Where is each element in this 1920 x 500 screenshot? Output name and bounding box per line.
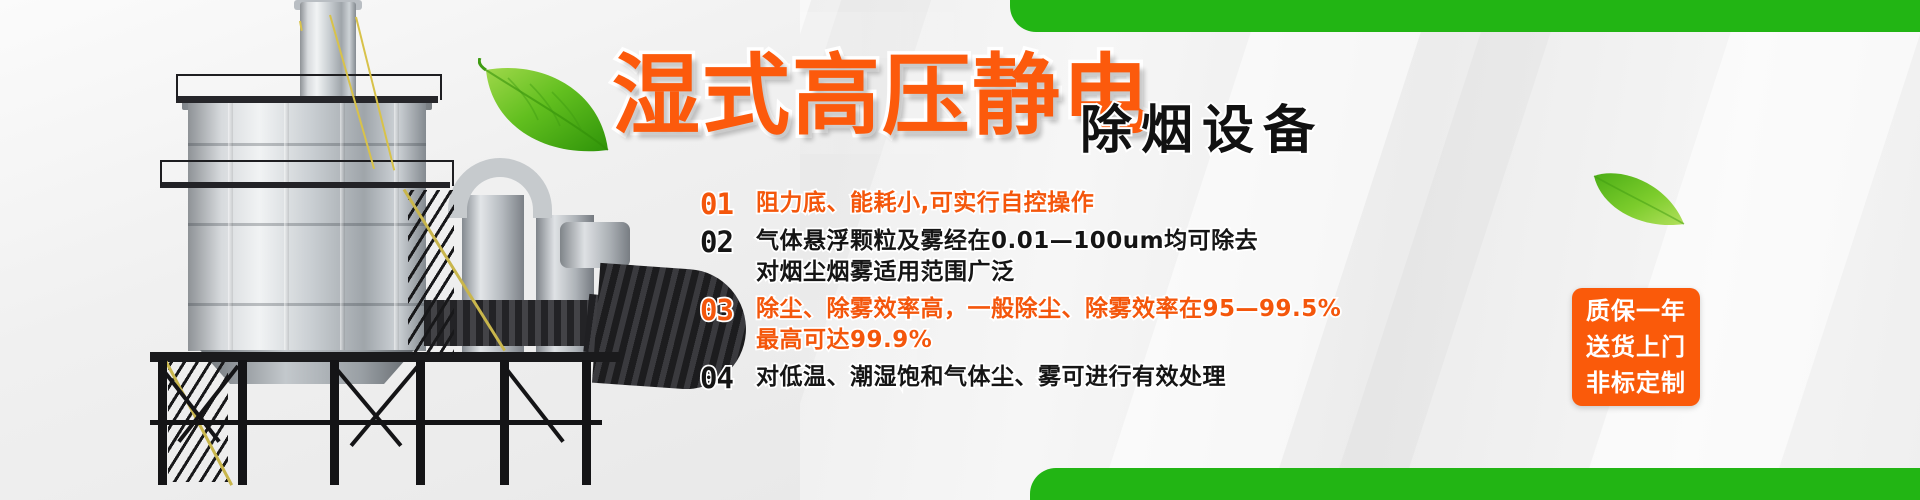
feature-number: 03 — [700, 294, 756, 326]
feature-text: 除尘、除雾效率高，一般除尘、除雾效率在95—99.5% 最高可达99.9% — [756, 294, 1341, 356]
list-item: 02 气体悬浮颗粒及雾经在0.01—100um均可除去 对烟尘烟雾适用范围广泛 — [700, 226, 1520, 288]
badge-line-warranty: 质保一年 — [1586, 293, 1686, 329]
feature-number: 01 — [700, 188, 756, 220]
body-seam — [228, 103, 233, 351]
list-item: 01 阻力底、能耗小,可实行自控操作 — [700, 188, 1520, 220]
bg-streak — [1559, 0, 1920, 500]
feature-text: 阻力底、能耗小,可实行自控操作 — [756, 188, 1094, 219]
scrubber-drum — [560, 222, 630, 268]
promo-banner: 湿式高压静电 除烟设备 01 阻力底、能耗小,可实行自控操作 02 气体悬浮颗粒… — [0, 0, 1920, 500]
headline-block: 湿式高压静电 — [612, 52, 1152, 140]
page-subtitle: 除烟设备 — [1080, 105, 1324, 157]
green-bar-bottom — [1030, 468, 1920, 500]
leaf-icon-small — [1592, 162, 1688, 232]
body-band — [188, 223, 426, 226]
page-title: 湿式高压静电 — [612, 52, 1152, 140]
feature-number: 02 — [700, 226, 756, 258]
list-item: 04 对低温、潮湿饱和气体尘、雾可进行有效处理 — [700, 362, 1520, 394]
body-seam — [284, 103, 289, 351]
catwalk-main — [150, 352, 620, 362]
body-band — [188, 303, 426, 306]
body-seam — [394, 103, 399, 351]
feature-text: 对低温、潮湿饱和气体尘、雾可进行有效处理 — [756, 362, 1226, 393]
list-item: 03 除尘、除雾效率高，一般除尘、除雾效率在95—99.5% 最高可达99.9% — [700, 294, 1520, 356]
body-band — [188, 143, 426, 146]
service-badge[interactable]: 质保一年 送货上门 非标定制 — [1572, 288, 1700, 406]
feature-text: 气体悬浮颗粒及雾经在0.01—100um均可除去 对烟尘烟雾适用范围广泛 — [756, 226, 1258, 288]
leaf-icon-large — [478, 58, 614, 162]
green-bar-top — [1010, 0, 1920, 32]
feature-list: 01 阻力底、能耗小,可实行自控操作 02 气体悬浮颗粒及雾经在0.01—100… — [700, 188, 1520, 400]
precipitator-body — [188, 103, 426, 351]
feature-number: 04 — [700, 362, 756, 394]
badge-line-custom: 非标定制 — [1586, 365, 1686, 401]
support-crossbeam — [150, 420, 602, 425]
body-seam — [340, 103, 345, 351]
badge-line-delivery: 送货上门 — [1586, 329, 1686, 365]
handrail-top — [176, 74, 442, 100]
handrail-mid — [160, 160, 454, 186]
stairs-upper — [408, 190, 454, 355]
